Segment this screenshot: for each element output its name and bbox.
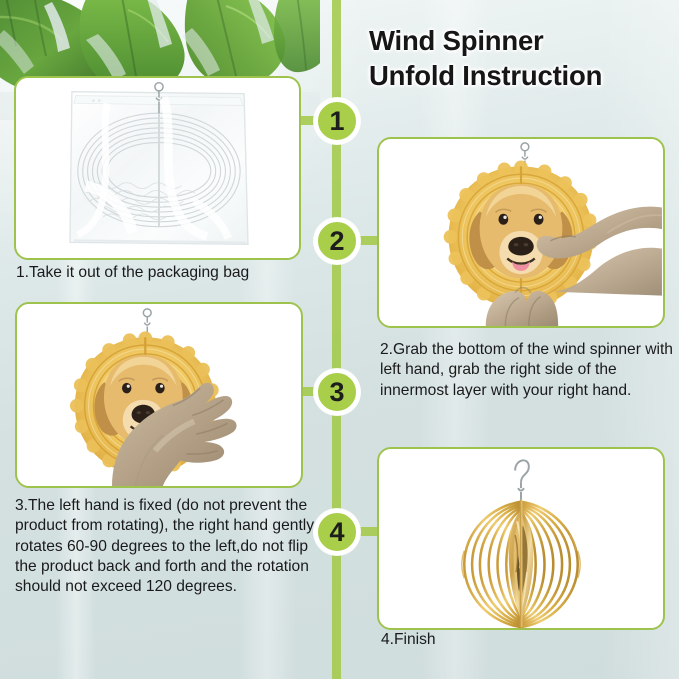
step-4-caption: 4.Finish	[381, 630, 581, 650]
step-3-caption: 3.The left hand is fixed (do not prevent…	[15, 496, 325, 597]
step-1-caption: 1.Take it out of the packaging bag	[16, 263, 316, 283]
packaged-wind-spinner-in-clear-bag-illustration	[16, 78, 299, 258]
dog-spinner-held-by-two-hands-illustration	[379, 139, 663, 326]
infographic-page: Wind Spinner Unfold Instruction	[0, 0, 679, 679]
step-badge-3[interactable]: 3	[314, 369, 360, 415]
step-badge-1[interactable]: 1	[314, 98, 360, 144]
step-2-image-panel	[377, 137, 665, 328]
step-1-image-panel	[14, 76, 301, 260]
title-line-1: Wind Spinner	[369, 23, 675, 58]
step-badge-2[interactable]: 2	[314, 218, 360, 264]
step-badge-4[interactable]: 4	[314, 509, 360, 555]
unfolded-3d-gold-wind-spinner-illustration	[379, 449, 663, 628]
step-4-image-panel	[377, 447, 665, 630]
page-title: Wind Spinner Unfold Instruction	[369, 23, 675, 93]
step-3-image-panel	[15, 302, 303, 488]
dog-spinner-rotated-by-right-hand-illustration	[17, 304, 301, 486]
step-2-caption: 2.Grab the bottom of the wind spinner wi…	[380, 340, 676, 401]
title-line-2: Unfold Instruction	[369, 58, 675, 93]
